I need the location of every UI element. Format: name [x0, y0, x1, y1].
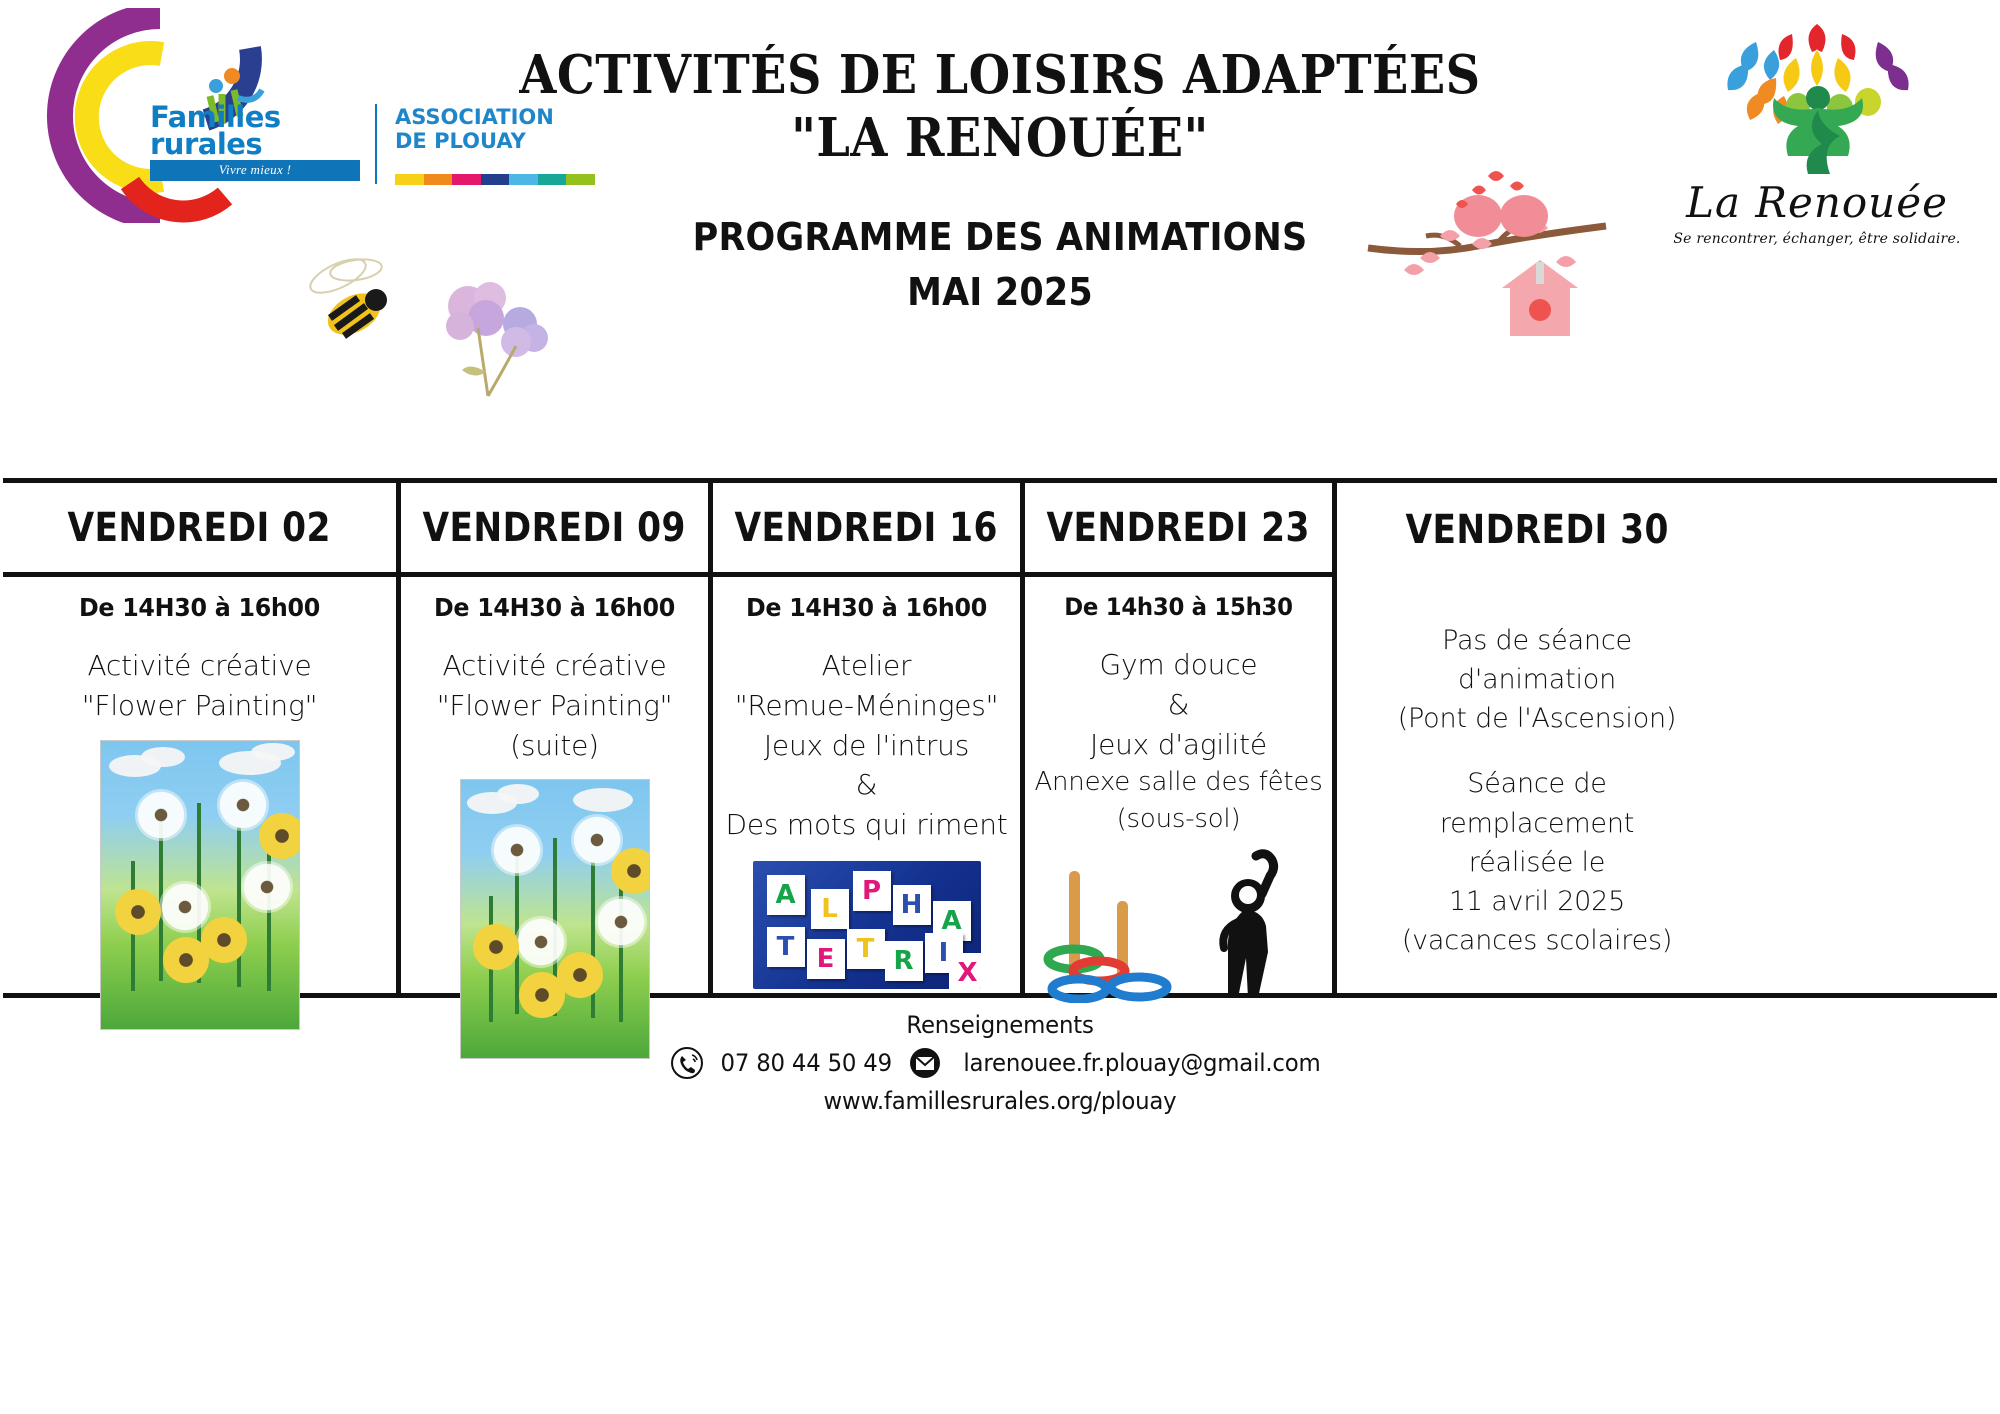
time-range: De 14H30 à 16h00 [19, 593, 381, 622]
activity-line: Activité créative [407, 646, 702, 686]
day-label: VENDREDI 30 [1405, 507, 1668, 553]
activity-line: Atelier [719, 646, 1014, 686]
replacement-line: 11 avril 2025 [1343, 882, 1731, 921]
alpha-tetrix-game-box: A L P H A T E T R I X [753, 861, 981, 989]
dandelion-painting-thumbnail [100, 740, 300, 1030]
location-line: Annexe salle des fêtes [1031, 764, 1326, 801]
phone-icon [670, 1046, 704, 1080]
poster-footer: Renseignements 07 80 44 50 49 larenouee.… [0, 1008, 2000, 1118]
time-range: De 14H30 à 16h00 [414, 593, 694, 622]
envelope-icon [908, 1046, 942, 1080]
activity-line: "Remue-Méninges" [719, 686, 1014, 726]
schedule-column-vendredi-16: VENDREDI 16 De 14H30 à 16h00 Atelier "Re… [713, 483, 1025, 993]
schedule-table: VENDREDI 02 De 14H30 à 16h00 Activité cr… [3, 478, 1997, 998]
activity-line: "Flower Painting" [9, 686, 390, 726]
column-header: VENDREDI 23 [1025, 483, 1332, 577]
footer-contact-row: 07 80 44 50 49 larenouee.fr.plouay@gmail… [0, 1046, 2000, 1080]
column-header: VENDREDI 30 [1337, 483, 1737, 577]
birds-icon [1360, 170, 1620, 385]
column-header: VENDREDI 02 [3, 483, 396, 577]
footer-email[interactable]: larenouee.fr.plouay@gmail.com [964, 1046, 1321, 1080]
activity-line: (suite) [407, 726, 702, 766]
page-title-line-2: "LA RENOUÉE" [100, 107, 1900, 170]
activity-line: Jeux de l'intrus [719, 726, 1014, 766]
bee-icon [292, 256, 412, 351]
day-label: VENDREDI 09 [423, 505, 686, 551]
schedule-column-vendredi-30: VENDREDI 30 Pas de séance d'animation (P… [1337, 483, 1737, 993]
replacement-line: (vacances scolaires) [1343, 921, 1731, 960]
renouee-tagline: Se rencontrer, échanger, être solidaire. [1652, 231, 1982, 247]
schedule-column-vendredi-23: VENDREDI 23 De 14h30 à 15h30 Gym douce &… [1025, 483, 1337, 993]
ring-toss-icon [1043, 853, 1193, 1003]
activity-line: Gym douce [1031, 645, 1326, 685]
stretching-figure-icon [1204, 848, 1314, 1003]
activity-line: & [1031, 685, 1326, 725]
day-label: VENDREDI 02 [68, 505, 331, 551]
footer-heading: Renseignements [50, 1008, 1950, 1042]
poster-header: Familles rurales Vivre mieux ! ASSOCIATI… [0, 0, 2000, 478]
ring-toss-and-stretching-figure [1031, 848, 1326, 1003]
replacement-line: réalisée le [1343, 843, 1731, 882]
day-label: VENDREDI 16 [735, 505, 998, 551]
schedule-column-vendredi-02: VENDREDI 02 De 14H30 à 16h00 Activité cr… [3, 483, 401, 993]
day-label: VENDREDI 23 [1047, 505, 1310, 551]
page-title-line-1: ACTIVITÉS DE LOISIRS ADAPTÉES [100, 44, 1900, 107]
column-header: VENDREDI 16 [713, 483, 1020, 577]
activity-line: Pas de séance [1343, 621, 1731, 660]
replacement-line: remplacement [1343, 804, 1731, 843]
activity-line: Activité créative [9, 646, 390, 686]
renouee-name: La Renouée [1652, 178, 1982, 227]
activity-line: "Flower Painting" [407, 686, 702, 726]
time-range: De 14H30 à 16h00 [726, 593, 1006, 622]
renouee-tree-icon [1692, 6, 1942, 176]
activity-line: & [719, 765, 1014, 805]
location-line: (sous-sol) [1031, 801, 1326, 838]
column-body: De 14H30 à 16h00 Activité créative "Flow… [3, 577, 396, 1036]
footer-website[interactable]: www.famillesrurales.org/plouay [50, 1084, 1950, 1118]
footer-phone[interactable]: 07 80 44 50 49 [720, 1046, 891, 1080]
activity-line: (Pont de l'Ascension) [1343, 699, 1731, 738]
replacement-line: Séance de [1343, 764, 1731, 803]
activity-line: Des mots qui riment [719, 805, 1014, 845]
column-body: Pas de séance d'animation (Pont de l'Asc… [1337, 577, 1737, 966]
schedule-column-vendredi-09: VENDREDI 09 De 14H30 à 16h00 Activité cr… [401, 483, 713, 993]
activity-line: Jeux d'agilité [1031, 725, 1326, 765]
column-body: De 14H30 à 16h00 Activité créative "Flow… [401, 577, 708, 1065]
column-body: De 14h30 à 15h30 Gym douce & Jeux d'agil… [1025, 577, 1332, 1009]
column-header: VENDREDI 09 [401, 483, 708, 577]
flowers-icon [420, 280, 570, 405]
time-range: De 14h30 à 15h30 [1038, 593, 1318, 621]
column-body: De 14H30 à 16h00 Atelier "Remue-Méninges… [713, 577, 1020, 995]
activity-line: d'animation [1343, 660, 1731, 699]
la-renouee-logo: La Renouée Se rencontrer, échanger, être… [1652, 6, 1982, 247]
